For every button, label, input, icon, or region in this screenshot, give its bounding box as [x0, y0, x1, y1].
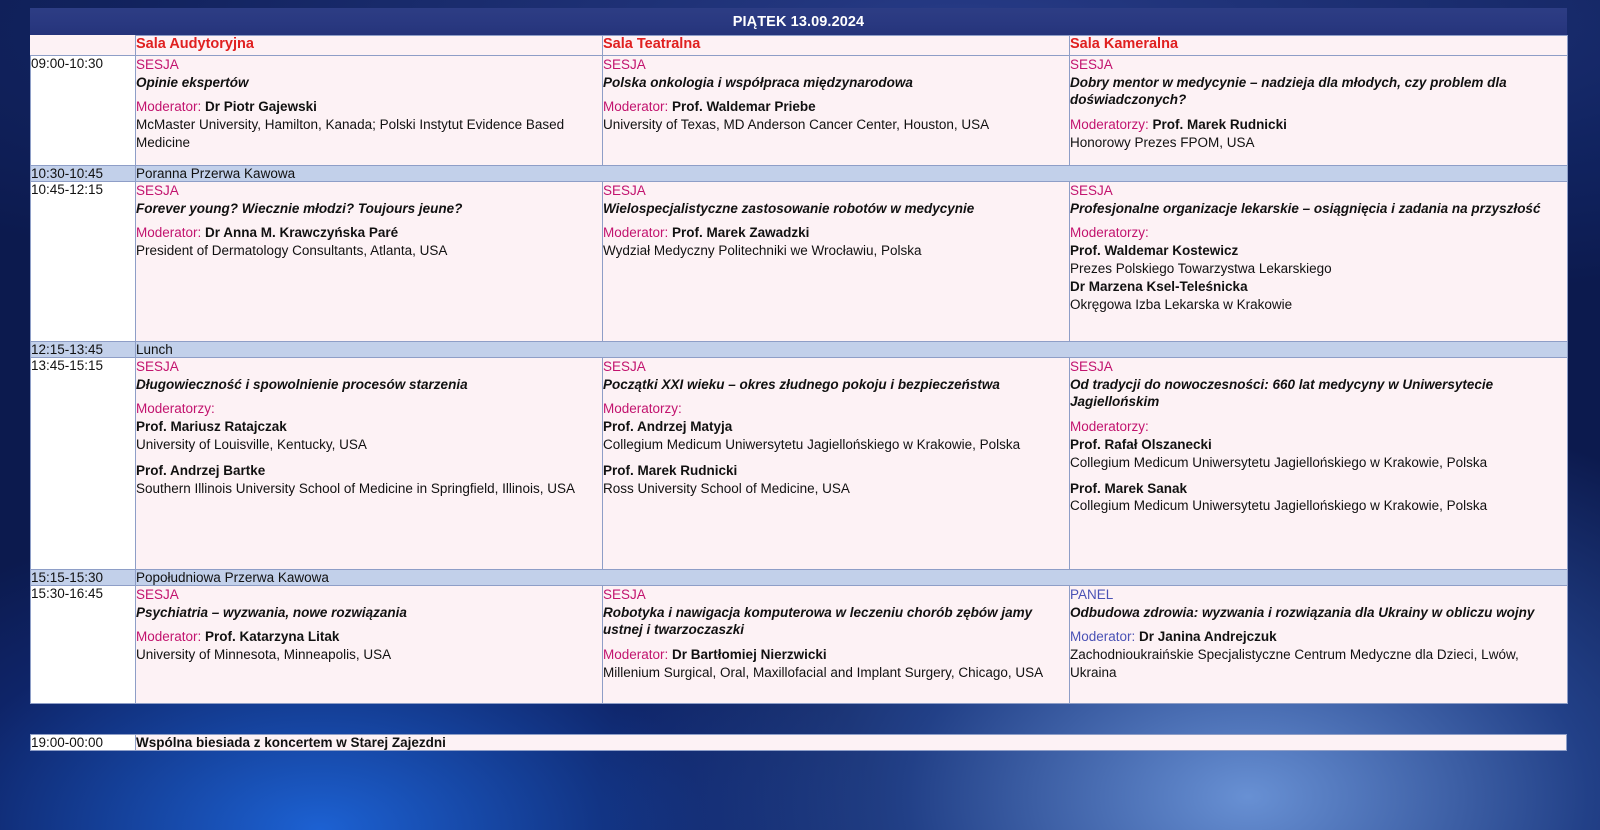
- day-header-bar: PIĄTEK 13.09.2024: [30, 8, 1567, 35]
- break-row: 15:15-15:30Popołudniowa Przerwa Kawowa: [31, 570, 1568, 586]
- session-kind-label: SESJA: [603, 56, 1069, 74]
- moderator-person: Prof. Mariusz RatajczakUniversity of Lou…: [136, 418, 602, 454]
- moderator-person: Moderator: Dr Bartłomiej NierzwickiMille…: [603, 646, 1069, 682]
- moderator-block: Moderatorzy:Prof. Waldemar KostewiczPrez…: [1070, 224, 1567, 314]
- session-row: 10:45-12:15SESJAForever young? Wiecznie …: [31, 182, 1568, 342]
- session-time-cell: 15:30-16:45: [31, 586, 136, 704]
- moderator-block: Moderator: Prof. Waldemar PriebeUniversi…: [603, 98, 1069, 134]
- session-time-cell: 13:45-15:15: [31, 358, 136, 570]
- break-label-cell: Lunch: [136, 342, 1568, 358]
- break-time-cell: 10:30-10:45: [31, 166, 136, 182]
- session-title: Od tradycji do nowoczesności: 660 lat me…: [1070, 376, 1567, 411]
- moderator-affiliation: University of Minnesota, Minneapolis, US…: [136, 646, 602, 664]
- moderator-affiliation: Collegium Medicum Uniwersytetu Jagielloń…: [603, 436, 1069, 454]
- moderator-name: Prof. Marek Sanak: [1070, 480, 1567, 498]
- session-title: Dobry mentor w medycynie – nadzieja dla …: [1070, 74, 1567, 109]
- break-label-cell: Popołudniowa Przerwa Kawowa: [136, 570, 1568, 586]
- moderator-affiliation: Collegium Medicum Uniwersytetu Jagielloń…: [1070, 454, 1567, 472]
- session-title: Psychiatria – wyzwania, nowe rozwiązania: [136, 604, 602, 622]
- moderator-label: Moderator:: [136, 99, 201, 114]
- hall-header-label: Sala Kameralna: [1070, 36, 1178, 52]
- gap-strip: [30, 704, 1567, 734]
- moderator-name: Prof. Andrzej Bartke: [136, 462, 602, 480]
- schedule-container: PIĄTEK 13.09.2024 Sala Audytoryjna Sala …: [30, 8, 1567, 751]
- session-kind-label: SESJA: [1070, 182, 1567, 200]
- moderator-affiliation: President of Dermatology Consultants, At…: [136, 242, 602, 260]
- moderator-block: Moderator: Prof. Marek ZawadzkiWydział M…: [603, 224, 1069, 260]
- moderator-person: Prof. Waldemar KostewiczPrezes Polskiego…: [1070, 242, 1567, 278]
- session-cell: SESJAWielospecjalistyczne zastosowanie r…: [603, 182, 1070, 342]
- session-kind-label: SESJA: [136, 358, 602, 376]
- break-label-cell: Poranna Przerwa Kawowa: [136, 166, 1568, 182]
- moderator-affiliation: McMaster University, Hamilton, Kanada; P…: [136, 116, 602, 152]
- session-kind-label: SESJA: [1070, 358, 1567, 376]
- moderator-name: Prof. Marek Rudnicki: [1153, 117, 1287, 132]
- schedule-page: PIĄTEK 13.09.2024 Sala Audytoryjna Sala …: [0, 0, 1600, 830]
- hall-header-row: Sala Audytoryjna Sala Teatralna Sala Kam…: [31, 36, 1568, 56]
- moderator-affiliation: University of Louisville, Kentucky, USA: [136, 436, 602, 454]
- moderator-affiliation: Millenium Surgical, Oral, Maxillofacial …: [603, 664, 1069, 682]
- session-cell: SESJADługowieczność i spowolnienie proce…: [136, 358, 603, 570]
- moderator-person: Prof. Marek RudnickiRoss University Scho…: [603, 462, 1069, 498]
- moderator-person: Moderator: Dr Anna M. Krawczyńska ParéPr…: [136, 224, 602, 260]
- session-kind-label: SESJA: [603, 586, 1069, 604]
- moderator-affiliation: Okręgowa Izba Lekarska w Krakowie: [1070, 296, 1567, 314]
- moderator-affiliation: Wydział Medyczny Politechniki we Wrocław…: [603, 242, 1069, 260]
- session-title: Profesjonalne organizacje lekarskie – os…: [1070, 200, 1567, 218]
- moderator-label: Moderatorzy:: [603, 400, 1069, 418]
- session-cell: SESJAOd tradycji do nowoczesności: 660 l…: [1070, 358, 1568, 570]
- session-kind-label: SESJA: [136, 182, 602, 200]
- moderator-block: Moderatorzy: Prof. Marek RudnickiHonorow…: [1070, 116, 1567, 152]
- moderator-block: Moderator: Dr Piotr GajewskiMcMaster Uni…: [136, 98, 602, 152]
- moderator-label: Moderator:: [603, 225, 668, 240]
- session-cell: SESJAOpinie ekspertówModerator: Dr Piotr…: [136, 56, 603, 166]
- moderator-affiliation: Southern Illinois University School of M…: [136, 480, 602, 498]
- session-cell: SESJADobry mentor w medycynie – nadzieja…: [1070, 56, 1568, 166]
- moderator-name: Dr Piotr Gajewski: [205, 99, 317, 114]
- session-title: Wielospecjalistyczne zastosowanie robotó…: [603, 200, 1069, 218]
- moderator-person: Prof. Andrzej MatyjaCollegium Medicum Un…: [603, 418, 1069, 454]
- moderator-label: Moderatorzy:: [1070, 418, 1567, 436]
- moderator-label: Moderator:: [603, 647, 668, 662]
- hall-header-audytoryjna: Sala Audytoryjna: [136, 36, 603, 56]
- moderator-person: Moderator: Prof. Katarzyna LitakUniversi…: [136, 628, 602, 664]
- session-cell: PANELOdbudowa zdrowia: wyzwania i rozwią…: [1070, 586, 1568, 704]
- session-cell: SESJAProfesjonalne organizacje lekarskie…: [1070, 182, 1568, 342]
- moderator-affiliation: Zachodnioukraińskie Specjalistyczne Cent…: [1070, 646, 1567, 682]
- moderator-name: Dr Bartłomiej Nierzwicki: [672, 647, 827, 662]
- session-kind-label: SESJA: [603, 358, 1069, 376]
- moderator-name: Prof. Marek Zawadzki: [672, 225, 809, 240]
- session-title: Opinie ekspertów: [136, 74, 602, 92]
- moderator-name: Prof. Katarzyna Litak: [205, 629, 339, 644]
- moderator-person: Dr Marzena Ksel-TeleśnickaOkręgowa Izba …: [1070, 278, 1567, 314]
- corner-blank-cell: [31, 36, 136, 56]
- moderator-name: Prof. Mariusz Ratajczak: [136, 418, 602, 436]
- moderator-affiliation: Ross University School of Medicine, USA: [603, 480, 1069, 498]
- evening-table: 19:00-00:00 Wspólna biesiada z koncertem…: [30, 734, 1567, 751]
- moderator-block: Moderator: Dr Bartłomiej NierzwickiMille…: [603, 646, 1069, 682]
- session-row: 13:45-15:15SESJADługowieczność i spowoln…: [31, 358, 1568, 570]
- moderator-block: Moderator: Dr Janina AndrejczukZachodnio…: [1070, 628, 1567, 682]
- moderator-label: Moderator:: [136, 225, 201, 240]
- session-title: Długowieczność i spowolnienie procesów s…: [136, 376, 602, 394]
- break-row: 12:15-13:45Lunch: [31, 342, 1568, 358]
- session-kind-label: SESJA: [603, 182, 1069, 200]
- moderator-block: Moderatorzy:Prof. Mariusz RatajczakUnive…: [136, 400, 602, 498]
- moderator-name: Dr Janina Andrejczuk: [1139, 629, 1277, 644]
- break-time-cell: 12:15-13:45: [31, 342, 136, 358]
- moderator-person: Prof. Andrzej BartkeSouthern Illinois Un…: [136, 462, 602, 498]
- moderator-name: Prof. Rafał Olszanecki: [1070, 436, 1567, 454]
- session-kind-label: SESJA: [1070, 56, 1567, 74]
- moderator-affiliation: Honorowy Prezes FPOM, USA: [1070, 134, 1567, 152]
- break-row: 10:30-10:45Poranna Przerwa Kawowa: [31, 166, 1568, 182]
- moderator-block: Moderator: Dr Anna M. Krawczyńska ParéPr…: [136, 224, 602, 260]
- session-kind-label: PANEL: [1070, 586, 1567, 604]
- evening-row: 19:00-00:00 Wspólna biesiada z koncertem…: [31, 735, 1567, 751]
- moderator-label: Moderator:: [603, 99, 668, 114]
- session-kind-label: SESJA: [136, 56, 602, 74]
- session-time-cell: 10:45-12:15: [31, 182, 136, 342]
- moderator-block: Moderator: Prof. Katarzyna LitakUniversi…: [136, 628, 602, 664]
- moderator-label: Moderatorzy:: [136, 400, 602, 418]
- moderator-person: Moderatorzy: Prof. Marek RudnickiHonorow…: [1070, 116, 1567, 152]
- session-title: Odbudowa zdrowia: wyzwania i rozwiązania…: [1070, 604, 1567, 622]
- moderator-person: Prof. Rafał OlszaneckiCollegium Medicum …: [1070, 436, 1567, 472]
- moderator-block: Moderatorzy:Prof. Andrzej MatyjaCollegiu…: [603, 400, 1069, 498]
- table-body: 09:00-10:30SESJAOpinie ekspertówModerato…: [31, 56, 1568, 704]
- evening-time: 19:00-00:00: [31, 735, 136, 751]
- moderator-name: Prof. Marek Rudnicki: [603, 462, 1069, 480]
- hall-header-label: Sala Audytoryjna: [136, 36, 254, 52]
- moderator-block: Moderatorzy:Prof. Rafał OlszaneckiColleg…: [1070, 418, 1567, 516]
- session-cell: SESJAPolska onkologia i współpraca międz…: [603, 56, 1070, 166]
- evening-label: Wspólna biesiada z koncertem w Starej Za…: [136, 735, 1567, 751]
- session-title: Robotyka i nawigacja komputerowa w lecze…: [603, 604, 1069, 639]
- break-time-cell: 15:15-15:30: [31, 570, 136, 586]
- hall-header-teatralna: Sala Teatralna: [603, 36, 1070, 56]
- hall-header-label: Sala Teatralna: [603, 36, 700, 52]
- moderator-label: Moderator:: [136, 629, 201, 644]
- moderator-affiliation: Collegium Medicum Uniwersytetu Jagielloń…: [1070, 497, 1567, 515]
- session-time-cell: 09:00-10:30: [31, 56, 136, 166]
- session-title: Polska onkologia i współpraca międzynaro…: [603, 74, 1069, 92]
- session-row: 09:00-10:30SESJAOpinie ekspertówModerato…: [31, 56, 1568, 166]
- moderator-affiliation: Prezes Polskiego Towarzystwa Lekarskiego: [1070, 260, 1567, 278]
- session-row: 15:30-16:45SESJAPsychiatria – wyzwania, …: [31, 586, 1568, 704]
- moderator-person: Moderator: Dr Janina AndrejczukZachodnio…: [1070, 628, 1567, 682]
- table-head: Sala Audytoryjna Sala Teatralna Sala Kam…: [31, 36, 1568, 56]
- schedule-table: Sala Audytoryjna Sala Teatralna Sala Kam…: [30, 35, 1568, 704]
- session-cell: SESJAPsychiatria – wyzwania, nowe rozwią…: [136, 586, 603, 704]
- moderator-name: Prof. Waldemar Kostewicz: [1070, 242, 1567, 260]
- moderator-person: Moderator: Prof. Marek ZawadzkiWydział M…: [603, 224, 1069, 260]
- session-kind-label: SESJA: [136, 586, 602, 604]
- hall-header-kameralna: Sala Kameralna: [1070, 36, 1568, 56]
- session-title: Początki XXI wieku – okres złudnego poko…: [603, 376, 1069, 394]
- moderator-name: Dr Anna M. Krawczyńska Paré: [205, 225, 398, 240]
- moderator-name: Dr Marzena Ksel-Teleśnicka: [1070, 278, 1567, 296]
- moderator-label: Moderatorzy:: [1070, 224, 1567, 242]
- moderator-label: Moderatorzy:: [1070, 117, 1149, 132]
- day-title: PIĄTEK 13.09.2024: [733, 14, 864, 30]
- session-cell: SESJARobotyka i nawigacja komputerowa w …: [603, 586, 1070, 704]
- moderator-name: Prof. Andrzej Matyja: [603, 418, 1069, 436]
- moderator-name: Prof. Waldemar Priebe: [672, 99, 816, 114]
- session-title: Forever young? Wiecznie młodzi? Toujours…: [136, 200, 602, 218]
- moderator-label: Moderator:: [1070, 629, 1135, 644]
- moderator-person: Moderator: Prof. Waldemar PriebeUniversi…: [603, 98, 1069, 134]
- session-cell: SESJAPoczątki XXI wieku – okres złudnego…: [603, 358, 1070, 570]
- moderator-person: Moderator: Dr Piotr GajewskiMcMaster Uni…: [136, 98, 602, 152]
- moderator-person: Prof. Marek SanakCollegium Medicum Uniwe…: [1070, 480, 1567, 516]
- moderator-affiliation: University of Texas, MD Anderson Cancer …: [603, 116, 1069, 134]
- session-cell: SESJAForever young? Wiecznie młodzi? Tou…: [136, 182, 603, 342]
